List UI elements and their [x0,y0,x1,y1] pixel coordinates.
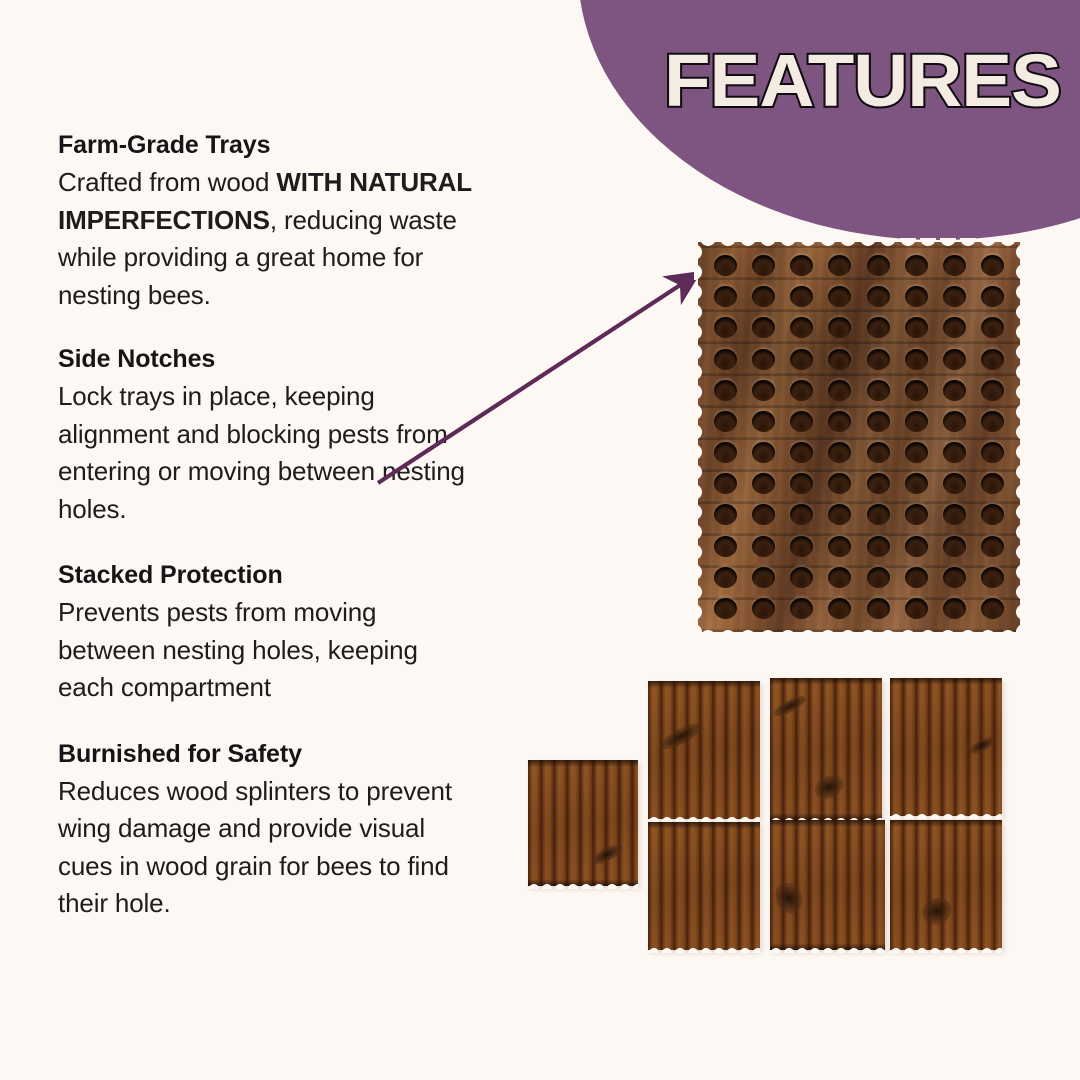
scalloped-edge-top [698,238,1020,251]
scalloped-edge-right [1011,242,1024,632]
wood-knot [589,841,625,868]
nesting-hole [790,504,813,525]
nesting-hole [905,380,928,401]
tray-single-left [528,760,638,886]
nesting-hole [790,598,813,619]
nesting-hole [867,255,890,276]
nesting-hole [981,473,1004,494]
nesting-hole [943,504,966,525]
feature-title: Side Notches [58,342,478,376]
feature-block-side-notches: Side Notches Lock trays in place, keepin… [58,342,478,528]
nesting-hole [752,504,775,525]
feature-title: Farm-Grade Trays [58,128,478,162]
feature-body-text-plain: Crafted from wood [58,167,276,197]
nesting-hole [714,380,737,401]
nesting-hole [790,411,813,432]
nesting-hole [790,286,813,307]
charred-edge [770,678,882,685]
nesting-hole [828,411,851,432]
nesting-hole [943,349,966,370]
nesting-hole [790,380,813,401]
nesting-hole [943,317,966,338]
nesting-hole [943,255,966,276]
charred-edge [890,820,1002,827]
nesting-hole [714,349,737,370]
wood-knot [770,878,808,918]
nesting-hole [752,567,775,588]
charred-edge [890,678,1002,685]
nesting-hole [981,255,1004,276]
scalloped-edge-left [694,242,707,632]
nesting-hole [790,349,813,370]
nesting-hole [905,349,928,370]
nesting-hole [981,411,1004,432]
nesting-hole [790,442,813,463]
infographic-canvas: FEATURES Farm-Grade Trays Crafted from w… [0,0,1080,1080]
stacked-nesting-block-photo [698,232,1020,642]
feature-body: Reduces wood splinters to prevent wing d… [58,773,478,923]
nesting-hole [981,286,1004,307]
nesting-hole [905,442,928,463]
nesting-hole [905,536,928,557]
nesting-hole [905,567,928,588]
feature-body: Crafted from wood WITH NATURAL IMPERFECT… [58,164,478,314]
nesting-hole [828,504,851,525]
feature-title: Burnished for Safety [58,737,478,771]
charred-edge [770,820,885,827]
tray-top-2 [770,678,882,820]
features-list: Farm-Grade Trays Crafted from wood WITH … [58,128,478,947]
nesting-hole [867,411,890,432]
nesting-hole [828,473,851,494]
nesting-hole [981,349,1004,370]
tray-bottom-2 [770,820,885,950]
nesting-hole [752,411,775,432]
nesting-hole [828,349,851,370]
nesting-hole [714,504,737,525]
nesting-hole [867,504,890,525]
feature-block-stacked-protection: Stacked Protection Prevents pests from m… [58,558,478,707]
nesting-hole [943,473,966,494]
nesting-hole [905,317,928,338]
nesting-hole [752,255,775,276]
nesting-hole [752,473,775,494]
nesting-hole [905,411,928,432]
nesting-hole [981,567,1004,588]
nesting-hole [714,598,737,619]
nesting-hole [981,598,1004,619]
tray-bottom-3 [890,820,1002,950]
nesting-hole [867,380,890,401]
nesting-hole [867,567,890,588]
nesting-hole [790,473,813,494]
nesting-hole [828,380,851,401]
wood-knot [811,770,848,804]
tray-side-notches [648,814,760,822]
nesting-hole [790,255,813,276]
nesting-hole [714,536,737,557]
nesting-hole [752,317,775,338]
nesting-hole [981,380,1004,401]
scalloped-edge-bottom [698,625,1020,638]
nesting-hole [714,286,737,307]
nesting-hole [981,504,1004,525]
nesting-hole [867,317,890,338]
nesting-hole [752,286,775,307]
nesting-hole [943,380,966,401]
nesting-hole [905,598,928,619]
nesting-hole [828,598,851,619]
feature-body: Lock trays in place, keeping alignment a… [58,378,478,528]
nesting-hole [714,317,737,338]
nesting-hole [943,411,966,432]
nesting-hole [905,286,928,307]
nesting-hole [943,536,966,557]
tray-side-notches [890,945,1002,953]
nesting-hole [943,442,966,463]
nesting-hole [981,317,1004,338]
nesting-hole [714,411,737,432]
tray-bottom-1 [648,822,760,950]
nesting-hole [752,598,775,619]
nesting-hole [714,473,737,494]
nesting-hole [981,536,1004,557]
nesting-hole [828,286,851,307]
wood-knot [967,734,997,757]
nesting-hole [714,567,737,588]
wood-knot [918,892,957,929]
nesting-hole [790,536,813,557]
nesting-hole [752,380,775,401]
nesting-hole [981,442,1004,463]
nesting-hole [943,598,966,619]
wood-knot [657,719,705,754]
tray-top-3 [890,678,1002,816]
nesting-hole [905,504,928,525]
feature-title: Stacked Protection [58,558,478,592]
nesting-hole [867,473,890,494]
nesting-hole [828,255,851,276]
page-title: FEATURES [664,44,1076,118]
feature-block-burnished-for-safety: Burnished for Safety Reduces wood splint… [58,737,478,923]
nesting-hole [828,567,851,588]
wood-knot [771,692,808,719]
nesting-hole [790,317,813,338]
charred-edge [648,822,760,829]
nesting-hole [867,286,890,307]
nesting-hole [790,567,813,588]
nesting-hole [867,349,890,370]
feature-body: Prevents pests from moving between nesti… [58,594,478,707]
nesting-hole [828,317,851,338]
charred-edge [648,681,760,688]
nesting-hole [828,442,851,463]
tray-side-notches [528,881,638,889]
nesting-hole [752,536,775,557]
tray-side-notches [890,811,1002,819]
nesting-hole [867,536,890,557]
tray-side-notches [648,945,760,953]
nesting-hole [714,255,737,276]
nesting-hole [752,349,775,370]
nesting-hole [905,255,928,276]
feature-block-farm-grade-trays: Farm-Grade Trays Crafted from wood WITH … [58,128,478,314]
nesting-hole [867,598,890,619]
nesting-hole [943,286,966,307]
nesting-hole [943,567,966,588]
nesting-hole [714,442,737,463]
tray-side-notches [770,945,885,953]
nesting-hole [828,536,851,557]
nesting-hole [905,473,928,494]
charred-edge [528,760,638,767]
nesting-holes-grid [706,250,1012,624]
tray-top-1 [648,681,760,819]
nesting-hole [752,442,775,463]
nesting-hole [867,442,890,463]
